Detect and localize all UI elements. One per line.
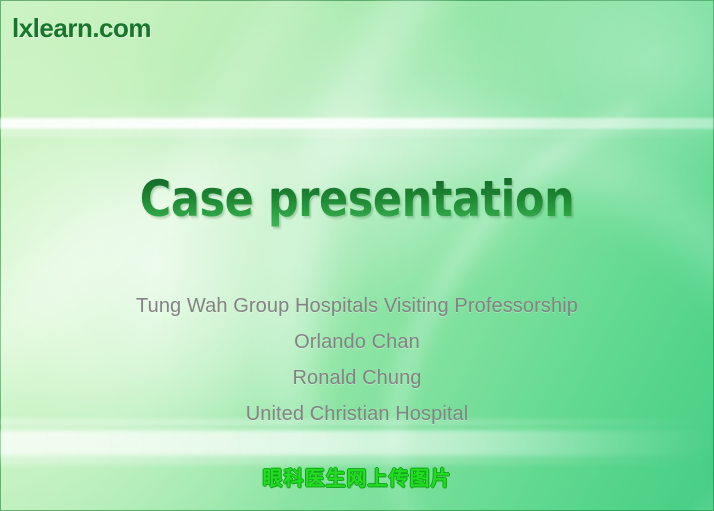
subtitle-block: Tung Wah Group Hospitals Visiting Profes… — [0, 288, 714, 432]
subtitle-line-event: Tung Wah Group Hospitals Visiting Profes… — [0, 288, 714, 324]
site-watermark: lxlearn.com — [12, 13, 151, 44]
subtitle-line-institution: United Christian Hospital — [0, 396, 714, 432]
divider-band-upper-soft — [0, 129, 714, 137]
swirl-ribbon-2 — [0, 0, 714, 511]
divider-band-lower — [0, 430, 714, 456]
divider-band-upper — [0, 118, 714, 129]
swirl-ribbon-1 — [124, 0, 714, 511]
background-swirl-decoration — [0, 0, 714, 511]
swirl-ribbon-4 — [0, 0, 714, 511]
upload-source-stamp: 眼科医生网上传图片 — [0, 462, 714, 491]
page-title: Case presentation — [50, 170, 664, 228]
subtitle-line-presenter-2: Ronald Chung — [0, 360, 714, 396]
subtitle-line-presenter-1: Orlando Chan — [0, 324, 714, 360]
swirl-ribbon-3 — [293, 0, 714, 511]
swirl-ribbon-5 — [299, 14, 714, 511]
presentation-slide: lxlearn.com Case presentation Tung Wah G… — [0, 0, 714, 511]
